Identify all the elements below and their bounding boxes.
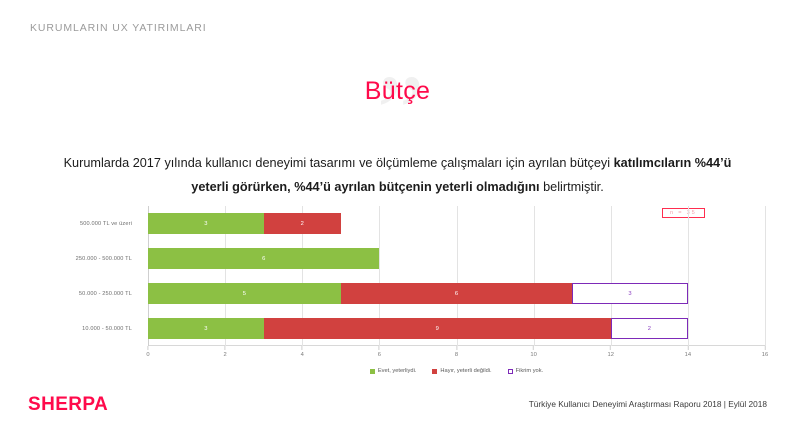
chart-bar-row[interactable]: 6 [148,248,765,269]
chart-bar-segment[interactable]: 6 [341,283,572,304]
chart-tick-mark [302,346,303,350]
legend-swatch-icon [370,369,375,374]
budget-chart: n = 35 500.000 TL ve üzeri250.000 - 500.… [30,206,765,366]
slide-title-block: ” Bütçe [0,62,795,120]
chart-bar-segment[interactable]: 5 [148,283,341,304]
chart-x-tick: 2 [224,346,227,358]
chart-legend-label: Hayır, yeterli değildi. [440,368,491,374]
chart-bar-segment[interactable]: 9 [264,318,611,339]
chart-y-axis-labels: 500.000 TL ve üzeri250.000 - 500.000 TL5… [30,206,140,346]
chart-gridline [765,206,766,346]
chart-tick-mark [764,346,765,350]
chart-x-tick-label: 12 [608,352,614,358]
chart-plot-area: 326563392 [148,206,765,346]
chart-y-label: 500.000 TL ve üzeri [27,221,132,227]
slide: KURUMLARIN UX YATIRIMLARI ” Bütçe Kuruml… [0,0,795,442]
chart-x-tick: 8 [455,346,458,358]
chart-bar-segment[interactable]: 3 [572,283,688,304]
chart-legend-label: Evet, yeterliydi. [378,368,417,374]
legend-swatch-icon [432,369,437,374]
sherpa-logo: SHERPA [28,394,108,416]
chart-x-tick-label: 0 [146,352,149,358]
legend-swatch-icon [508,369,513,374]
chart-legend-item[interactable]: Hayır, yeterli değildi. [432,368,491,374]
chart-x-tick-label: 10 [530,352,536,358]
chart-y-label: 50.000 - 250.000 TL [27,291,132,297]
chart-tick-mark [610,346,611,350]
chart-x-tick: 4 [301,346,304,358]
chart-x-tick-label: 16 [762,352,768,358]
chart-x-tick: 12 [608,346,614,358]
slide-eyebrow: KURUMLARIN UX YATIRIMLARI [30,22,207,34]
chart-tick-mark [687,346,688,350]
chart-legend-item[interactable]: Evet, yeterliydi. [370,368,417,374]
chart-bar-row[interactable]: 392 [148,318,765,339]
lead-text-part2: belirtmiştir. [540,180,604,194]
chart-x-tick: 16 [762,346,768,358]
chart-x-tick-label: 6 [378,352,381,358]
chart-x-tick: 0 [146,346,149,358]
chart-plot-shell: 500.000 TL ve üzeri250.000 - 500.000 TL5… [30,206,765,346]
chart-bar-segment[interactable]: 2 [611,318,688,339]
chart-tick-mark [225,346,226,350]
chart-x-tick-label: 8 [455,352,458,358]
chart-y-label: 10.000 - 50.000 TL [27,326,132,332]
chart-x-tick: 14 [685,346,691,358]
chart-bar-segment[interactable]: 3 [148,318,264,339]
chart-tick-mark [379,346,380,350]
chart-bar-segment[interactable]: 6 [148,248,379,269]
chart-x-tick: 10 [530,346,536,358]
chart-legend-item[interactable]: Fikrim yok. [508,368,544,374]
chart-x-tick-label: 4 [301,352,304,358]
page-title: Bütçe [365,77,430,106]
chart-bar-segment[interactable]: 2 [264,213,341,234]
footer-note: Türkiye Kullanıcı Deneyimi Araştırması R… [529,399,767,409]
chart-bar-row[interactable]: 32 [148,213,765,234]
lead-paragraph: Kurumlarda 2017 yılında kullanıcı deneyi… [45,152,750,199]
chart-y-label: 250.000 - 500.000 TL [27,256,132,262]
chart-bar-row[interactable]: 563 [148,283,765,304]
chart-tick-mark [456,346,457,350]
chart-x-tick-label: 2 [224,352,227,358]
chart-tick-mark [147,346,148,350]
chart-legend: Evet, yeterliydi.Hayır, yeterli değildi.… [148,368,765,374]
lead-text-part1: Kurumlarda 2017 yılında kullanıcı deneyi… [64,156,614,170]
chart-x-tick-label: 14 [685,352,691,358]
chart-legend-label: Fikrim yok. [516,368,544,374]
chart-x-tick: 6 [378,346,381,358]
chart-tick-mark [533,346,534,350]
chart-bar-segment[interactable]: 3 [148,213,264,234]
chart-x-axis-ticks: 0246810121416 [148,346,765,364]
